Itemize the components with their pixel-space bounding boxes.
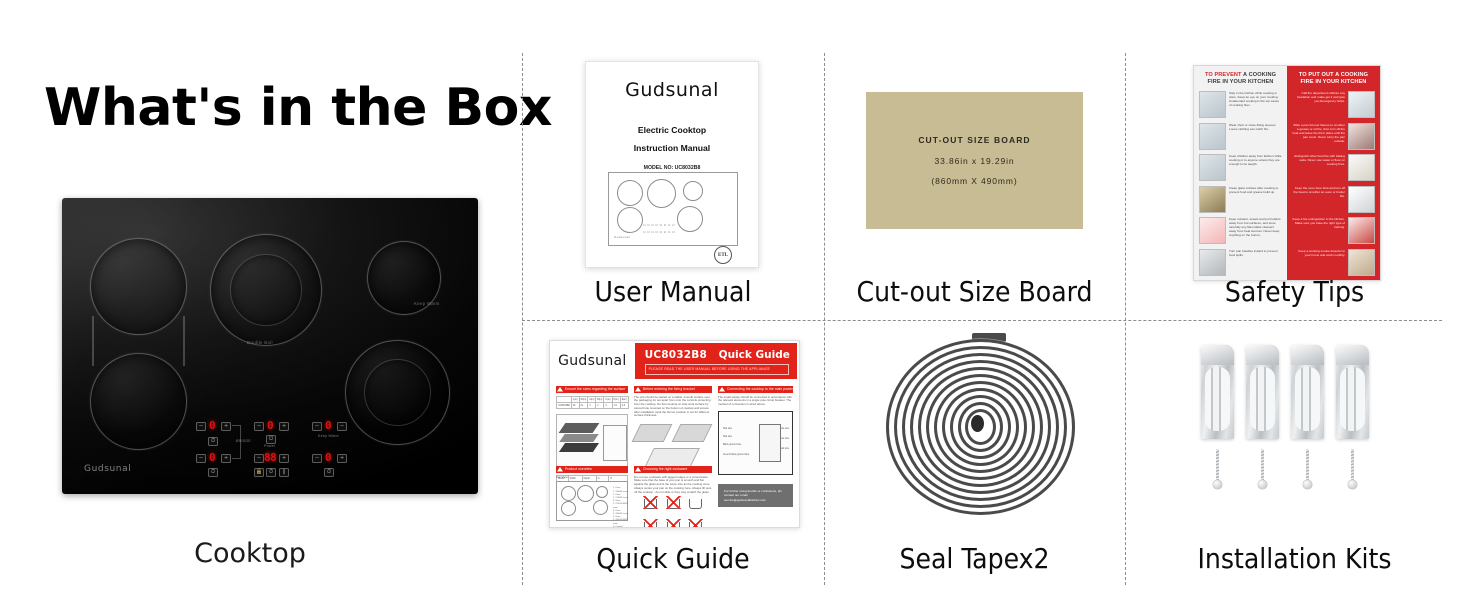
caption-installation-kits: Installation Kits xyxy=(1125,542,1464,575)
keep-warm-label: Keep Warm xyxy=(318,434,339,438)
board-title: CUT-OUT SIZE BOARD xyxy=(918,135,1030,145)
quick-guide-brandbox: Gudsunal xyxy=(550,341,635,381)
mounting-bracket xyxy=(1336,345,1369,439)
tip-row: Call fire department without any hesitat… xyxy=(1292,91,1375,118)
table-cell: 30 xyxy=(571,402,579,408)
tip-image-icon xyxy=(1199,154,1226,181)
zone6-plus-key[interactable]: + xyxy=(337,454,347,463)
zone5-display: 0 xyxy=(325,420,331,431)
tip-row: Slide a pan lid over flames to smother a… xyxy=(1292,123,1375,150)
quick-guide-section-3: Connecting the cooktop to the main power… xyxy=(718,386,793,475)
pause-key[interactable]: ‖ xyxy=(279,468,289,477)
screw-head xyxy=(1303,480,1312,489)
cooktop-brand-mark: Gudsunal xyxy=(84,464,131,474)
mounting-screw xyxy=(1348,449,1357,489)
seal-tape-coil xyxy=(884,333,1074,513)
cell-seal-tape: Seal Tapex2 xyxy=(824,320,1125,585)
cell-installation-kits: Installation Kits xyxy=(1125,320,1464,585)
tip-row: Clean glass surface after cooking to pre… xyxy=(1199,186,1282,213)
quick-guide-section-heading: Before entering the fixing bracket xyxy=(634,386,712,393)
mounting-bracket xyxy=(1201,345,1234,439)
tip-row: Turn pan handles inward to prevent food … xyxy=(1199,249,1282,276)
burner-center-inner xyxy=(230,254,302,326)
manual-fig-burner-5 xyxy=(677,206,703,232)
manual-fig-burner-1 xyxy=(617,180,643,206)
table-cell: 4 xyxy=(604,402,612,408)
table-cell: 4 xyxy=(588,402,596,408)
screw-head xyxy=(1348,480,1357,489)
caption-cooktop: Cooktop xyxy=(0,538,500,569)
tip-text: Slide a pan lid over flames to smother a… xyxy=(1292,123,1345,143)
wiring-label-left-1: Red wire xyxy=(723,428,732,430)
tip-text: Keep the oven door shut and turn off the… xyxy=(1292,186,1345,198)
zone6-timer-key[interactable]: ⏱ xyxy=(324,468,334,477)
user-manual-cover: Gudsunal Electric Cooktop Instruction Ma… xyxy=(585,61,759,268)
tip-text: Stay in the kitchen while cooking is don… xyxy=(1229,91,1282,107)
tip-row: Wear short or close fitting sleeves. Loo… xyxy=(1199,123,1282,150)
wiring-label-left-3: Black ground wire xyxy=(723,444,741,446)
cooktop-product-image: Double Boil Keep Warm Gudsunal − 0 + ⏱ xyxy=(62,198,478,494)
quick-guide-contact-note: For further using doubts or confusions, … xyxy=(718,484,793,507)
bridge-bar-left xyxy=(92,316,94,366)
poster-heading-prevent: TO PREVENT A COOKING FIRE IN YOUR KITCHE… xyxy=(1199,72,1282,86)
screw-head xyxy=(1258,480,1267,489)
cooktop-control-panel[interactable]: − 0 + ⏱ BRIDGE − 0 + ⏱ − 0 + ⏻ Power xyxy=(196,420,361,480)
table-cell: 2 xyxy=(596,402,604,408)
tip-image-icon xyxy=(1348,217,1375,244)
cooktop-glass-surface: Double Boil Keep Warm Gudsunal − 0 + ⏱ xyxy=(62,198,478,494)
manual-fig-burner-2 xyxy=(617,207,643,233)
tip-image-icon xyxy=(1199,123,1226,150)
tip-image-icon xyxy=(1348,154,1375,181)
wiring-label-left-4: Green/Yellow ground wire xyxy=(723,454,749,456)
diagram-bracket-detail xyxy=(603,425,627,461)
tip-row: Keep the oven door shut and turn off the… xyxy=(1292,186,1375,213)
topview-burner-1 xyxy=(561,486,576,501)
burner-label-keep-warm: Keep Warm xyxy=(414,301,440,306)
wiring-terminal-block xyxy=(759,424,781,462)
manual-model-number: MODEL NO: UC8032B8 xyxy=(586,165,758,171)
zone1-display: 0 xyxy=(209,420,215,431)
bridge-bar-right xyxy=(183,316,185,366)
poster-heading-putout: TO PUT OUT A COOKING FIRE IN YOUR KITCHE… xyxy=(1292,72,1375,86)
manual-line-doctype: Instruction Manual xyxy=(586,143,758,153)
table-cell: 1.5 xyxy=(612,402,620,408)
quick-guide-section-2: Before entering the fixing bracket The u… xyxy=(634,386,712,476)
table-cell: UC8032B8 xyxy=(557,402,572,408)
quick-guide-section-5: Choosing the right cookware Do not use c… xyxy=(634,466,712,528)
zone4-minus-key[interactable]: − xyxy=(254,454,264,463)
manual-fig-burner-4 xyxy=(683,181,703,201)
tip-image-icon xyxy=(1348,123,1375,150)
poster-heading-putout-l3: FIRE IN YOUR KITCHEN xyxy=(1301,79,1367,85)
zone6-minus-key[interactable]: − xyxy=(312,454,322,463)
board-dimension-mm: (860mm X 490mm) xyxy=(931,176,1017,186)
quick-guide-section-heading: Connecting the cooktop to the main power… xyxy=(718,386,793,393)
cookware-bad-icon xyxy=(667,522,680,528)
caption-seal-tape: Seal Tapex2 xyxy=(824,542,1125,575)
topview-burner-4 xyxy=(596,486,608,498)
zone2-display: 0 xyxy=(209,452,215,463)
power-label: Power xyxy=(264,444,275,448)
cell-quick-guide: Gudsunal UC8032B8 Quick Guide PLEASE REA… xyxy=(522,320,824,585)
poster-heading-putout-l2: A COOKING xyxy=(1335,72,1368,78)
power-key[interactable]: ⏻ xyxy=(266,435,276,444)
quick-guide-spec-table: L(in)W(in)A(in)B(in)C(in)D(in)E(in) UC80… xyxy=(556,396,629,409)
tip-row: Keep a fire extinguisher in the kitchen.… xyxy=(1292,217,1375,244)
zone1-minus-key[interactable]: − xyxy=(196,422,206,431)
quick-guide-sheet: Gudsunal UC8032B8 Quick Guide PLEASE REA… xyxy=(549,340,800,528)
cookware-icon-row-2 xyxy=(634,519,712,528)
zone2-plus-key[interactable]: + xyxy=(221,454,231,463)
tip-row: Keep a working smoke detector in your ho… xyxy=(1292,249,1375,276)
tip-text: Keep a fire extinguisher in the kitchen.… xyxy=(1292,217,1345,229)
install-diagram-a xyxy=(632,424,673,442)
tip-text: Keep curtains, towels and pot holders aw… xyxy=(1229,217,1282,237)
zone2-timer-key[interactable]: ⏱ xyxy=(208,468,218,477)
tip-image-icon xyxy=(1199,217,1226,244)
cell-cutout-board: CUT-OUT SIZE BOARD 33.86in x 19.29in (86… xyxy=(824,53,1125,320)
lock-key[interactable]: 🔒 xyxy=(254,468,264,477)
cookware-bad-icon xyxy=(689,522,702,528)
zone6-display: 0 xyxy=(325,452,331,463)
quick-guide-red-bar: UC8032B8 Quick Guide PLEASE READ THE USE… xyxy=(635,343,797,379)
table-cell: 2.5 xyxy=(620,402,628,408)
screw-shaft xyxy=(1261,449,1265,482)
diagram-layer-glass xyxy=(559,423,600,433)
whats-in-the-box-infographic: What's in the Box Double Boil Keep Warm xyxy=(0,0,1464,600)
caption-safety-tips: Safety Tips xyxy=(1125,275,1464,308)
mounting-bracket xyxy=(1291,345,1324,439)
zone3-display: 0 xyxy=(267,420,273,431)
cutout-size-board: CUT-OUT SIZE BOARD 33.86in x 19.29in (86… xyxy=(866,92,1083,229)
quick-guide-brand: Gudsunal xyxy=(558,353,627,369)
tip-image-icon xyxy=(1199,249,1226,276)
tip-row: Keep children away from kitchen while co… xyxy=(1199,154,1282,181)
screw-shaft xyxy=(1216,449,1220,482)
manual-brand: Gudsunal xyxy=(586,79,758,101)
poster-heading-putout-l1: TO PUT OUT xyxy=(1299,72,1334,78)
wiring-label-left-2: Red wire xyxy=(723,436,732,438)
quick-guide-title: Quick Guide xyxy=(719,349,790,361)
quick-guide-section-body: Do not use cookware with jagged edges or… xyxy=(634,473,712,495)
zone3-minus-key[interactable]: − xyxy=(254,422,264,431)
quick-guide-subtitle: PLEASE READ THE USER MANUAL BEFORE USING… xyxy=(645,364,789,375)
mounting-screw xyxy=(1213,449,1222,489)
manual-fig-burner-3 xyxy=(647,179,676,208)
timer-key[interactable]: ⏱ xyxy=(266,468,276,477)
page-title: What's in the Box xyxy=(44,78,552,138)
poster-heading-prevent-l3: FIRE IN YOUR KITCHEN xyxy=(1208,79,1274,85)
table-row: UC8032B830214241.52.5 xyxy=(557,402,629,408)
tip-image-icon xyxy=(1348,249,1375,276)
topview-legend: 1. Zone 1 1800W zone2. Zone 2 1200W zone… xyxy=(613,487,628,528)
burner-right-lower-inner xyxy=(364,359,431,426)
poster-column-prevent: TO PREVENT A COOKING FIRE IN YOUR KITCHE… xyxy=(1194,66,1287,280)
tip-row: Keep curtains, towels and pot holders aw… xyxy=(1199,217,1282,244)
tip-row: Extinguish other food fire with baking s… xyxy=(1292,154,1375,181)
tip-text: Wear short or close fitting sleeves. Loo… xyxy=(1229,123,1282,131)
mounting-screw xyxy=(1303,449,1312,489)
topview-burner-2 xyxy=(561,501,576,516)
screw-shaft xyxy=(1306,449,1310,482)
quick-guide-section-body: The small supply should be connected in … xyxy=(718,393,793,407)
manual-line-product: Electric Cooktop xyxy=(586,125,758,135)
tip-text: Call fire department without any hesitat… xyxy=(1292,91,1345,103)
tip-text: Keep children away from kitchen while co… xyxy=(1229,154,1282,166)
screw-head xyxy=(1213,480,1222,489)
caption-user-manual: User Manual xyxy=(522,275,824,308)
topview-burner-3 xyxy=(577,485,594,502)
table-cell: 21 xyxy=(579,402,588,408)
zone1-timer-key[interactable]: ⏱ xyxy=(208,437,218,446)
zone5-plus-key[interactable]: − xyxy=(337,422,347,431)
diagram-layer-frame xyxy=(559,434,598,442)
quick-guide-section-heading: Product overview xyxy=(556,466,628,473)
zone2-minus-key[interactable]: − xyxy=(196,454,206,463)
tip-image-icon xyxy=(1199,186,1226,213)
quick-guide-section-heading: Choosing the right cookware xyxy=(634,466,712,473)
caption-cutout-board: Cut-out Size Board xyxy=(824,275,1125,308)
burner-label-double-boil: Double Boil xyxy=(247,340,273,345)
board-dimension-inches: 33.86in x 19.29in xyxy=(934,156,1014,166)
mounting-screw xyxy=(1258,449,1267,489)
quick-guide-wiring-diagram: Red wire Red wire Black ground wire Gree… xyxy=(718,411,793,475)
poster-column-putout: TO PUT OUT A COOKING FIRE IN YOUR KITCHE… xyxy=(1287,66,1380,280)
quick-guide-topview-diagram: 1. Zone 1 1800W zone2. Zone 2 1200W zone… xyxy=(556,481,628,521)
manual-fig-brand: Gudsunal xyxy=(614,235,630,239)
zone5-minus-key[interactable]: − xyxy=(312,422,322,431)
bridge-label: BRIDGE xyxy=(236,439,251,443)
quick-guide-model: UC8032B8 xyxy=(645,349,707,361)
cookware-icon-row-1 xyxy=(634,496,712,514)
tip-text: Extinguish other food fire with baking s… xyxy=(1292,154,1345,166)
cookware-good-icon xyxy=(689,499,702,509)
quick-guide-header: Gudsunal UC8032B8 Quick Guide PLEASE REA… xyxy=(550,341,799,381)
hero-panel: What's in the Box Double Boil Keep Warm xyxy=(0,0,522,600)
tip-row: Stay in the kitchen while cooking is don… xyxy=(1199,91,1282,118)
burner-left-lower xyxy=(90,353,187,450)
zone3-plus-key[interactable]: + xyxy=(279,422,289,431)
etl-badge-icon: ETL xyxy=(714,246,732,264)
tip-text: Turn pan handles inward to prevent food … xyxy=(1229,249,1282,257)
caption-quick-guide: Quick Guide xyxy=(522,542,824,575)
quick-guide-section-body: Top View xyxy=(556,473,628,480)
poster-heading-prevent-l1: TO PREVENT xyxy=(1205,72,1242,78)
manual-cover-diagram: ⊡ ⊡ ⊡ ⊡ ⊡ ⊡ ⊡ ⊡ ⊡ ⊡ ⊡ ⊡ ⊡ ⊡ ⊡ ⊡ Gudsunal xyxy=(608,172,738,246)
screw-shaft xyxy=(1351,449,1355,482)
mounting-bracket xyxy=(1246,345,1279,439)
tip-image-icon xyxy=(1199,91,1226,118)
zone4-plus-key[interactable]: + xyxy=(279,454,289,463)
quick-guide-section-4: Product overview Top View 1. Zone 1 1800… xyxy=(556,466,628,521)
tip-text: Clean glass surface after cooking to pre… xyxy=(1229,186,1282,194)
tip-text: Keep a working smoke detector in your ho… xyxy=(1292,249,1345,257)
cell-safety-tips: TO PREVENT A COOKING FIRE IN YOUR KITCHE… xyxy=(1125,53,1464,320)
quick-guide-section-heading: Ensure the sizes regarding the surface a… xyxy=(556,386,628,393)
cookware-bad-icon xyxy=(644,522,657,528)
manual-fig-controls: ⊡ ⊡ ⊡ ⊡ ⊡ ⊡ ⊡ ⊡ xyxy=(643,223,675,227)
cell-user-manual: Gudsunal Electric Cooktop Instruction Ma… xyxy=(522,53,824,320)
tape-center-core xyxy=(971,415,984,432)
installation-kit-parts xyxy=(1187,345,1402,515)
safety-tips-poster: TO PREVENT A COOKING FIRE IN YOUR KITCHE… xyxy=(1193,65,1381,281)
diagram-layer-counter xyxy=(559,443,599,452)
quick-guide-section-body: The unit should be placed on a stable, s… xyxy=(634,393,712,419)
cookware-bad-icon xyxy=(644,499,657,509)
manual-fig-controls-row2: ⊡ ⊡ ⊡ ⊡ ⊡ ⊡ ⊡ ⊡ xyxy=(643,230,675,234)
topview-burner-5 xyxy=(593,500,608,515)
poster-heading-prevent-l2: A COOKING xyxy=(1243,72,1276,78)
install-diagram-b xyxy=(672,424,713,442)
burner-left-upper xyxy=(90,238,187,335)
cookware-bad-icon xyxy=(667,499,680,509)
tip-image-icon xyxy=(1348,91,1375,118)
timer-display: 88 xyxy=(264,452,276,463)
zone1-plus-key[interactable]: + xyxy=(221,422,231,431)
tip-image-icon xyxy=(1348,186,1375,213)
quick-guide-exploded-diagram xyxy=(556,414,628,472)
